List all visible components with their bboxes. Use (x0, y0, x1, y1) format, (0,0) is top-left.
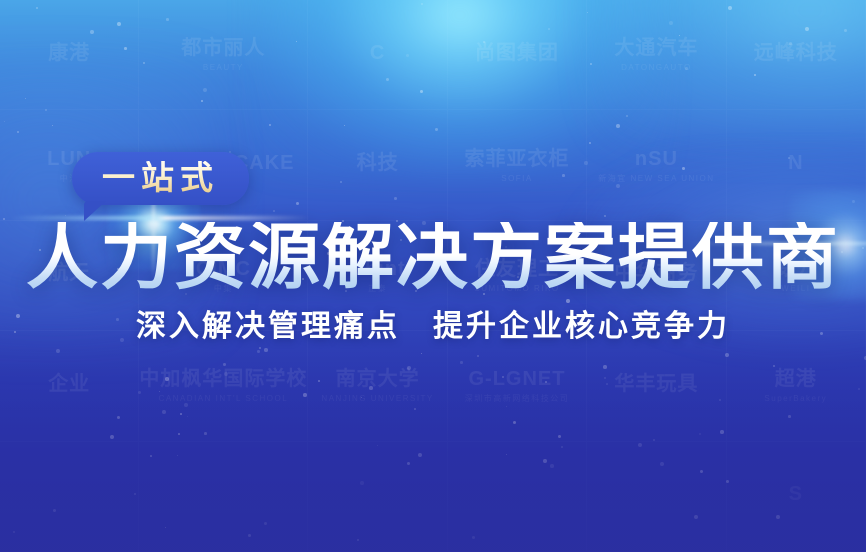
banner-content: 一站式 人力资源解决方案提供商 深入解决管理痛点 提升企业核心竞争力 (0, 0, 866, 552)
tagline-badge: 一站式 (72, 152, 249, 205)
hero-banner: 康港都市丽人BEAUTYC尚图集团大通汽车DATONGAUTO远峰科技LUN中油… (0, 0, 866, 552)
tagline-badge-label: 一站式 (102, 161, 219, 194)
page-title: 人力资源解决方案提供商 (0, 222, 866, 294)
page-subtitle: 深入解决管理痛点 提升企业核心竞争力 (0, 312, 866, 342)
